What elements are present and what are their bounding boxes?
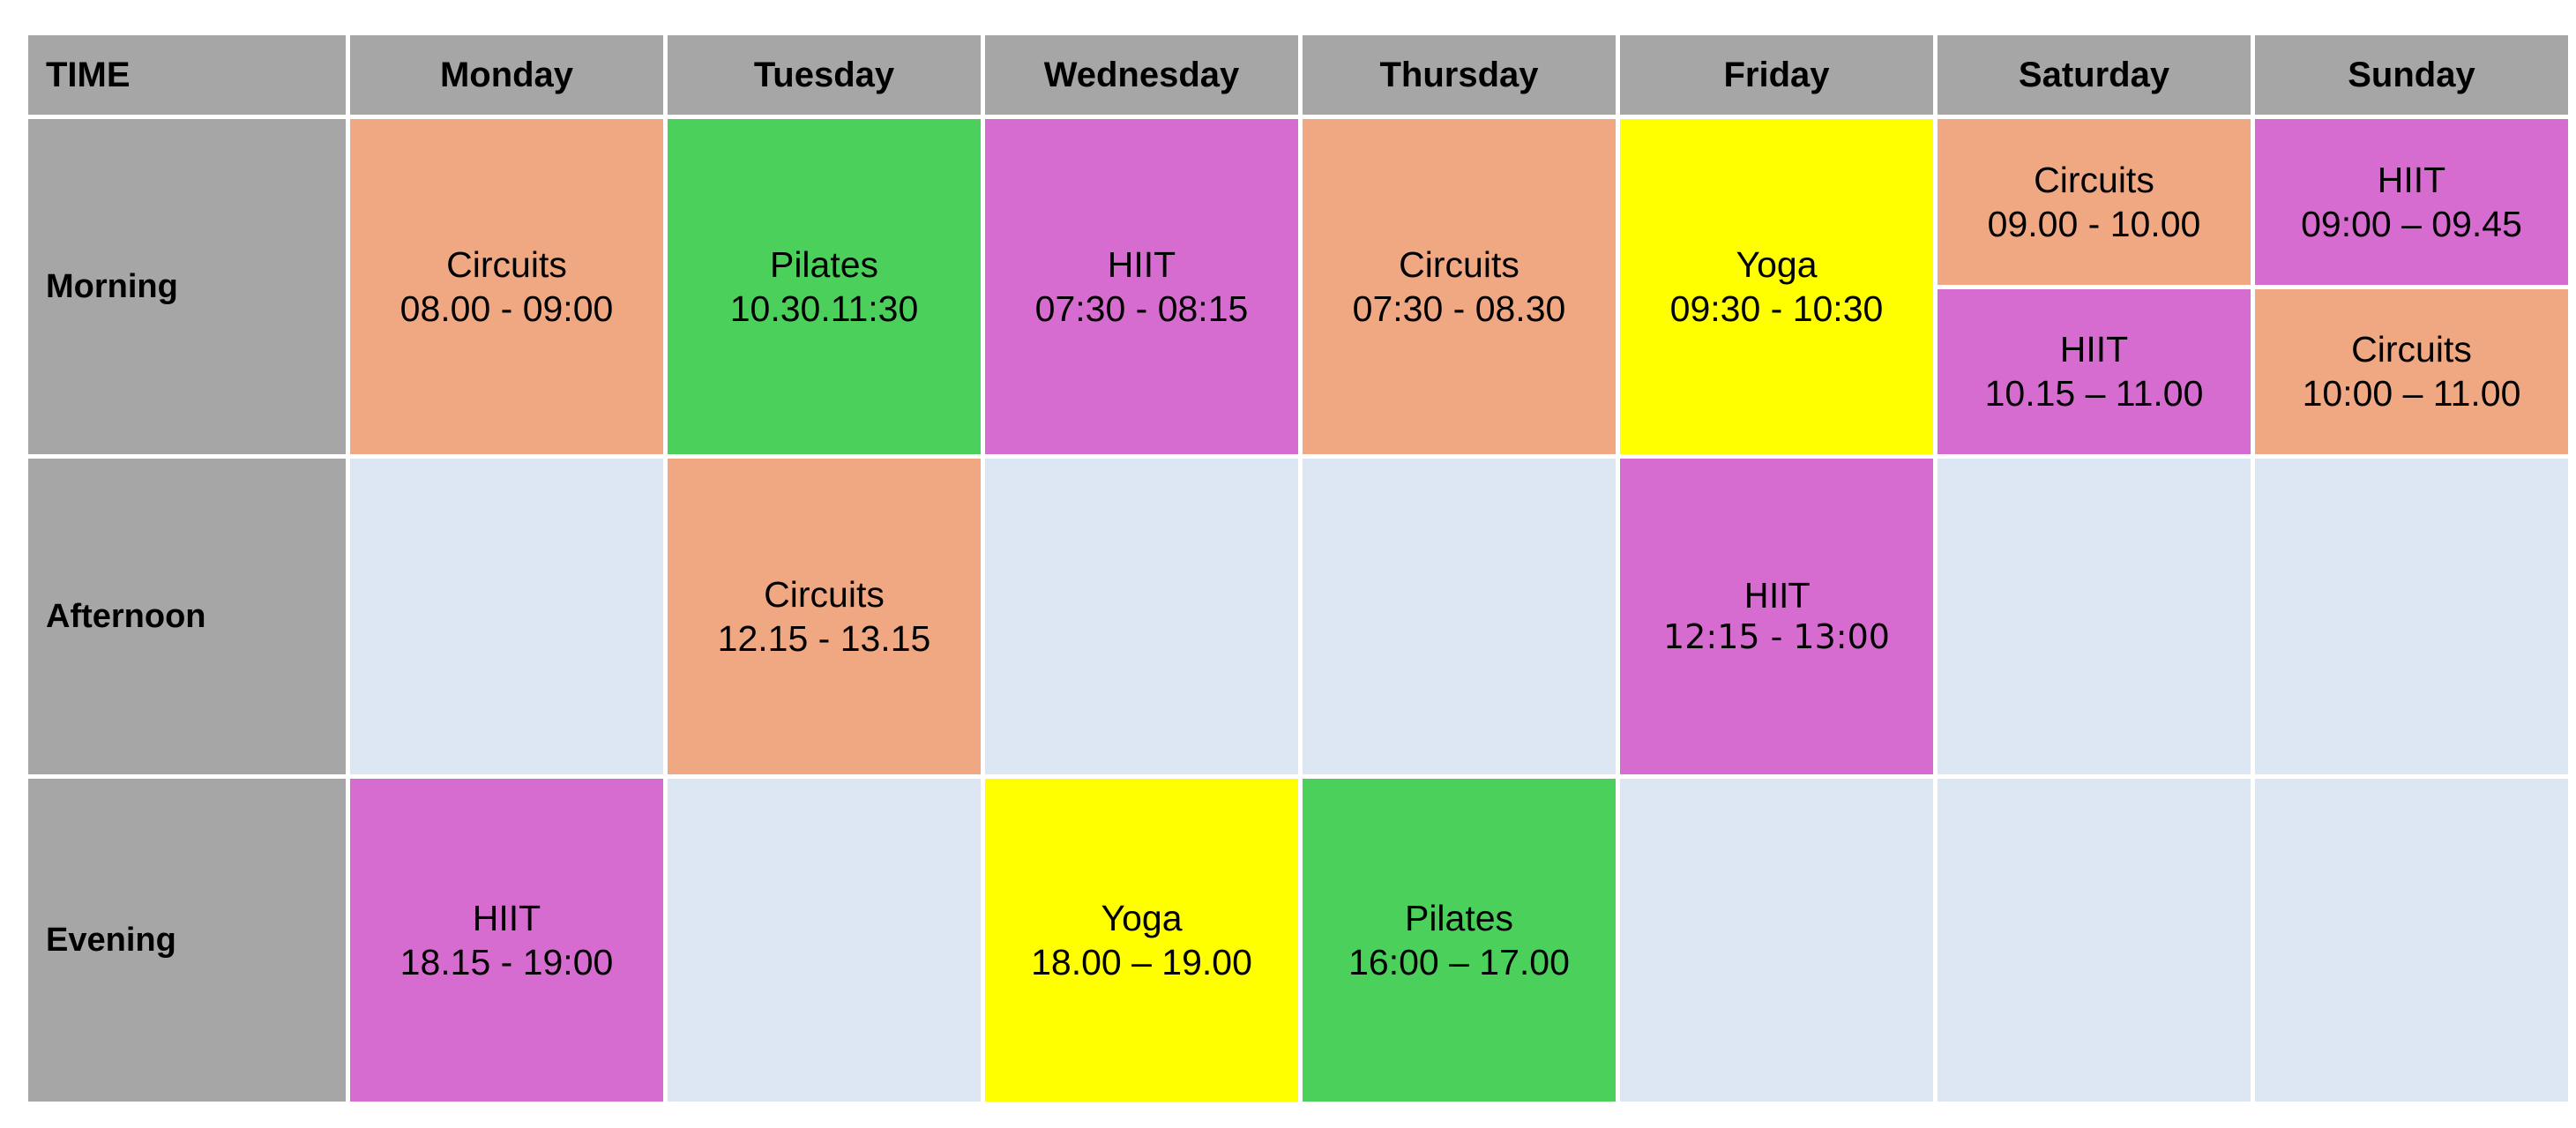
session-time-range: 10.30.11:30 — [668, 287, 981, 331]
time-period-label: Morning — [28, 119, 346, 454]
session-text: HIIT12:15 - 13:00 — [1620, 576, 1933, 658]
schedule-cell-sunday-evening-empty[interactable] — [2255, 779, 2568, 1102]
session-class-name: Yoga — [985, 896, 1298, 940]
session-class-name: Circuits — [2303, 327, 2521, 371]
schedule-cell-friday-morning[interactable]: Yoga09:30 - 10:30 — [1620, 119, 1933, 454]
schedule-cell-saturday-morning-split: Circuits09.00 - 10.00HIIT10.15 – 11.00 — [1938, 119, 2251, 454]
column-header-monday: Monday — [350, 35, 663, 115]
session-time-range: 10.15 – 11.00 — [1985, 371, 2204, 415]
schedule-cell-wednesday-afternoon-empty[interactable] — [985, 459, 1298, 774]
session-text: Circuits08.00 - 09:00 — [350, 243, 663, 331]
session-class-name: HIIT — [1985, 327, 2204, 371]
session-time-range: 09:00 – 09.45 — [2301, 202, 2522, 246]
schedule-cell-thursday-morning[interactable]: Circuits07:30 - 08.30 — [1303, 119, 1616, 454]
session-time-range: 09:30 - 10:30 — [1620, 287, 1933, 331]
schedule-cell-monday-morning[interactable]: Circuits08.00 - 09:00 — [350, 119, 663, 454]
session-class-name: Circuits — [1988, 158, 2201, 202]
session-time-range: 10:00 – 11.00 — [2303, 371, 2521, 415]
column-header-wednesday: Wednesday — [985, 35, 1298, 115]
session-text: HIIT09:00 – 09.45 — [2301, 158, 2522, 246]
schedule-cell-monday-afternoon-empty[interactable] — [350, 459, 663, 774]
session-text: Yoga09:30 - 10:30 — [1620, 243, 1933, 331]
session-class-name: Circuits — [1303, 243, 1616, 287]
column-header-time: TIME — [28, 35, 346, 115]
session-time-range: 08.00 - 09:00 — [350, 287, 663, 331]
time-period-label: Evening — [28, 779, 346, 1102]
session-time-range: 18.00 – 19.00 — [985, 940, 1298, 984]
schedule-cell-friday-afternoon[interactable]: HIIT12:15 - 13:00 — [1620, 459, 1933, 774]
session-time-range: 16:00 – 17.00 — [1303, 940, 1616, 984]
schedule-cell-saturday-morning-1[interactable]: Circuits09.00 - 10.00 — [1938, 119, 2251, 285]
session-text: HIIT07:30 - 08:15 — [985, 243, 1298, 331]
schedule-cell-wednesday-morning[interactable]: HIIT07:30 - 08:15 — [985, 119, 1298, 454]
session-time-range: 12.15 - 13.15 — [668, 616, 981, 661]
schedule-cell-sunday-morning-1[interactable]: HIIT09:00 – 09.45 — [2255, 119, 2568, 285]
column-header-saturday: Saturday — [1938, 35, 2251, 115]
schedule-cell-sunday-morning-2[interactable]: Circuits10:00 – 11.00 — [2255, 289, 2568, 455]
schedule-cell-thursday-afternoon-empty[interactable] — [1303, 459, 1616, 774]
split-cell-container: Circuits09.00 - 10.00HIIT10.15 – 11.00 — [1938, 119, 2251, 454]
session-time-range: 07:30 - 08:15 — [985, 287, 1298, 331]
column-header-sunday: Sunday — [2255, 35, 2568, 115]
session-class-name: Yoga — [1620, 243, 1933, 287]
schedule-cell-saturday-evening-empty[interactable] — [1938, 779, 2251, 1102]
header-row: TIME Monday Tuesday Wednesday Thursday F… — [28, 35, 2568, 115]
session-text: Circuits12.15 - 13.15 — [668, 572, 981, 661]
table-header: TIME Monday Tuesday Wednesday Thursday F… — [28, 35, 2568, 115]
schedule-cell-thursday-evening[interactable]: Pilates16:00 – 17.00 — [1303, 779, 1616, 1102]
column-header-tuesday: Tuesday — [668, 35, 981, 115]
session-text: HIIT18.15 - 19:00 — [350, 896, 663, 984]
schedule-row-morning: MorningCircuits08.00 - 09:00Pilates10.30… — [28, 119, 2568, 454]
schedule-cell-tuesday-afternoon[interactable]: Circuits12.15 - 13.15 — [668, 459, 981, 774]
class-schedule: TIME Monday Tuesday Wednesday Thursday F… — [28, 35, 2545, 1094]
session-text: Circuits10:00 – 11.00 — [2303, 327, 2521, 415]
session-class-name: Pilates — [668, 243, 981, 287]
session-class-name: Pilates — [1303, 896, 1616, 940]
schedule-cell-sunday-morning-split: HIIT09:00 – 09.45Circuits10:00 – 11.00 — [2255, 119, 2568, 454]
session-class-name: HIIT — [985, 243, 1298, 287]
session-time-range: 09.00 - 10.00 — [1988, 202, 2201, 246]
time-period-label: Afternoon — [28, 459, 346, 774]
column-header-friday: Friday — [1620, 35, 1933, 115]
session-class-name: HIIT — [2301, 158, 2522, 202]
schedule-cell-sunday-afternoon-empty[interactable] — [2255, 459, 2568, 774]
schedule-cell-tuesday-evening-empty[interactable] — [668, 779, 981, 1102]
schedule-cell-monday-evening[interactable]: HIIT18.15 - 19:00 — [350, 779, 663, 1102]
schedule-table: TIME Monday Tuesday Wednesday Thursday F… — [24, 31, 2572, 1106]
schedule-cell-saturday-afternoon-empty[interactable] — [1938, 459, 2251, 774]
session-class-name: HIIT — [350, 896, 663, 940]
session-time-range: 12:15 - 13:00 — [1620, 616, 1933, 657]
schedule-cell-saturday-morning-2[interactable]: HIIT10.15 – 11.00 — [1938, 289, 2251, 455]
session-text: Pilates10.30.11:30 — [668, 243, 981, 331]
schedule-cell-wednesday-evening[interactable]: Yoga18.00 – 19.00 — [985, 779, 1298, 1102]
session-text: Yoga18.00 – 19.00 — [985, 896, 1298, 984]
session-class-name: Circuits — [350, 243, 663, 287]
session-class-name: HIIT — [1620, 576, 1933, 616]
table-body: MorningCircuits08.00 - 09:00Pilates10.30… — [28, 119, 2568, 1102]
column-header-thursday: Thursday — [1303, 35, 1616, 115]
schedule-cell-friday-evening-empty[interactable] — [1620, 779, 1933, 1102]
session-time-range: 07:30 - 08.30 — [1303, 287, 1616, 331]
schedule-cell-tuesday-morning[interactable]: Pilates10.30.11:30 — [668, 119, 981, 454]
session-class-name: Circuits — [668, 572, 981, 616]
session-text: Circuits09.00 - 10.00 — [1988, 158, 2201, 246]
schedule-row-evening: EveningHIIT18.15 - 19:00Yoga18.00 – 19.0… — [28, 779, 2568, 1102]
split-cell-container: HIIT09:00 – 09.45Circuits10:00 – 11.00 — [2255, 119, 2568, 454]
session-text: HIIT10.15 – 11.00 — [1985, 327, 2204, 415]
session-text: Pilates16:00 – 17.00 — [1303, 896, 1616, 984]
session-time-range: 18.15 - 19:00 — [350, 940, 663, 984]
schedule-row-afternoon: AfternoonCircuits12.15 - 13.15HIIT12:15 … — [28, 459, 2568, 774]
session-text: Circuits07:30 - 08.30 — [1303, 243, 1616, 331]
